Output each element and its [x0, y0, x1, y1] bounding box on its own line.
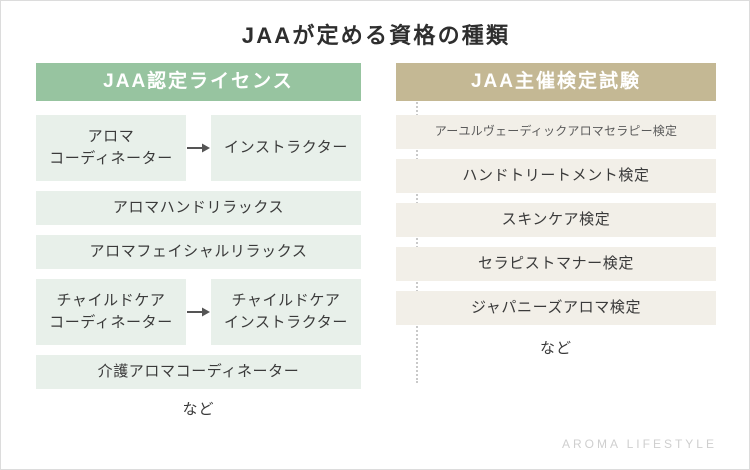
list-item: アロマフェイシャルリラックス	[36, 235, 361, 269]
exam-item-japanese-aroma[interactable]: ジャパニーズアロマ検定	[396, 291, 716, 325]
license-item-label: インストラクター	[224, 137, 348, 159]
license-item-label-line2: インストラクター	[224, 314, 348, 331]
exam-column-header: JAA主催検定試験	[396, 63, 716, 101]
license-item-label: 介護アロマコーディネーター	[98, 361, 300, 383]
license-item-label-line2: コーディネーター	[49, 314, 173, 331]
arrow-right-icon	[186, 115, 211, 181]
exam-item-label: スキンケア検定	[502, 209, 611, 231]
infographic-frame: JAAが定める資格の種類 JAA認定ライセンス アロマ コーディネーター	[0, 0, 750, 470]
exam-item-label: セラピストマナー検定	[478, 253, 634, 275]
columns-container: JAA認定ライセンス アロマ コーディネーター	[1, 63, 750, 419]
license-item-label: チャイルドケア コーディネーター	[49, 290, 173, 334]
list-item: アーユルヴェーディックアロマセラピー検定	[396, 115, 716, 149]
license-item-label: アロマフェイシャルリラックス	[90, 241, 308, 263]
list-item: アロマハンドリラックス	[36, 191, 361, 225]
license-item-label: アロマ コーディネーター	[49, 126, 173, 170]
list-item: スキンケア検定	[396, 203, 716, 237]
license-item-facial-relax[interactable]: アロマフェイシャルリラックス	[36, 235, 361, 269]
arrow-right-icon	[186, 279, 211, 345]
list-item: ジャパニーズアロマ検定	[396, 291, 716, 325]
license-etc-label: など	[36, 398, 361, 419]
exam-item-hand-treatment[interactable]: ハンドトリートメント検定	[396, 159, 716, 193]
license-item-instructor[interactable]: インストラクター	[211, 115, 361, 181]
license-item-care-aroma-coordinator[interactable]: 介護アロマコーディネーター	[36, 355, 361, 389]
license-column-header: JAA認定ライセンス	[36, 63, 361, 101]
license-item-label-line2: コーディネーター	[49, 150, 173, 167]
license-item-hand-relax[interactable]: アロマハンドリラックス	[36, 191, 361, 225]
list-item: セラピストマナー検定	[396, 247, 716, 281]
license-item-label-line1: チャイルドケア	[231, 292, 340, 309]
exam-column: JAA主催検定試験 アーユルヴェーディックアロマセラピー検定 ハンドトリートメン…	[381, 63, 750, 358]
exam-item-ayurvedic-aromatherapy[interactable]: アーユルヴェーディックアロマセラピー検定	[396, 115, 716, 149]
list-item: 介護アロマコーディネーター	[36, 355, 361, 389]
license-item-aroma-coordinator[interactable]: アロマ コーディネーター	[36, 115, 186, 181]
exam-row-list: アーユルヴェーディックアロマセラピー検定 ハンドトリートメント検定 スキンケア検…	[396, 115, 716, 325]
license-item-label: チャイルドケア インストラクター	[224, 290, 348, 334]
license-item-label-line1: アロマ	[88, 128, 135, 145]
exam-item-skincare[interactable]: スキンケア検定	[396, 203, 716, 237]
list-item: アロマ コーディネーター インストラクター	[36, 115, 361, 181]
exam-item-label: ハンドトリートメント検定	[462, 165, 649, 187]
exam-item-therapist-manner[interactable]: セラピストマナー検定	[396, 247, 716, 281]
license-item-label: アロマハンドリラックス	[113, 197, 284, 219]
list-item: ハンドトリートメント検定	[396, 159, 716, 193]
watermark-label: AROMA LIFESTYLE	[562, 437, 717, 451]
license-item-childcare-instructor[interactable]: チャイルドケア インストラクター	[211, 279, 361, 345]
exam-etc-label: など	[396, 337, 716, 358]
license-column: JAA認定ライセンス アロマ コーディネーター	[1, 63, 381, 419]
page-title: JAAが定める資格の種類	[1, 18, 750, 50]
license-row-list: アロマ コーディネーター インストラクター	[36, 115, 361, 389]
exam-item-label: ジャパニーズアロマ検定	[471, 297, 641, 319]
exam-item-label: アーユルヴェーディックアロマセラピー検定	[435, 123, 677, 140]
list-item: チャイルドケア コーディネーター チャイルドケア インストラクタ	[36, 279, 361, 345]
license-item-childcare-coordinator[interactable]: チャイルドケア コーディネーター	[36, 279, 186, 345]
license-item-label-line1: チャイルドケア	[56, 292, 165, 309]
